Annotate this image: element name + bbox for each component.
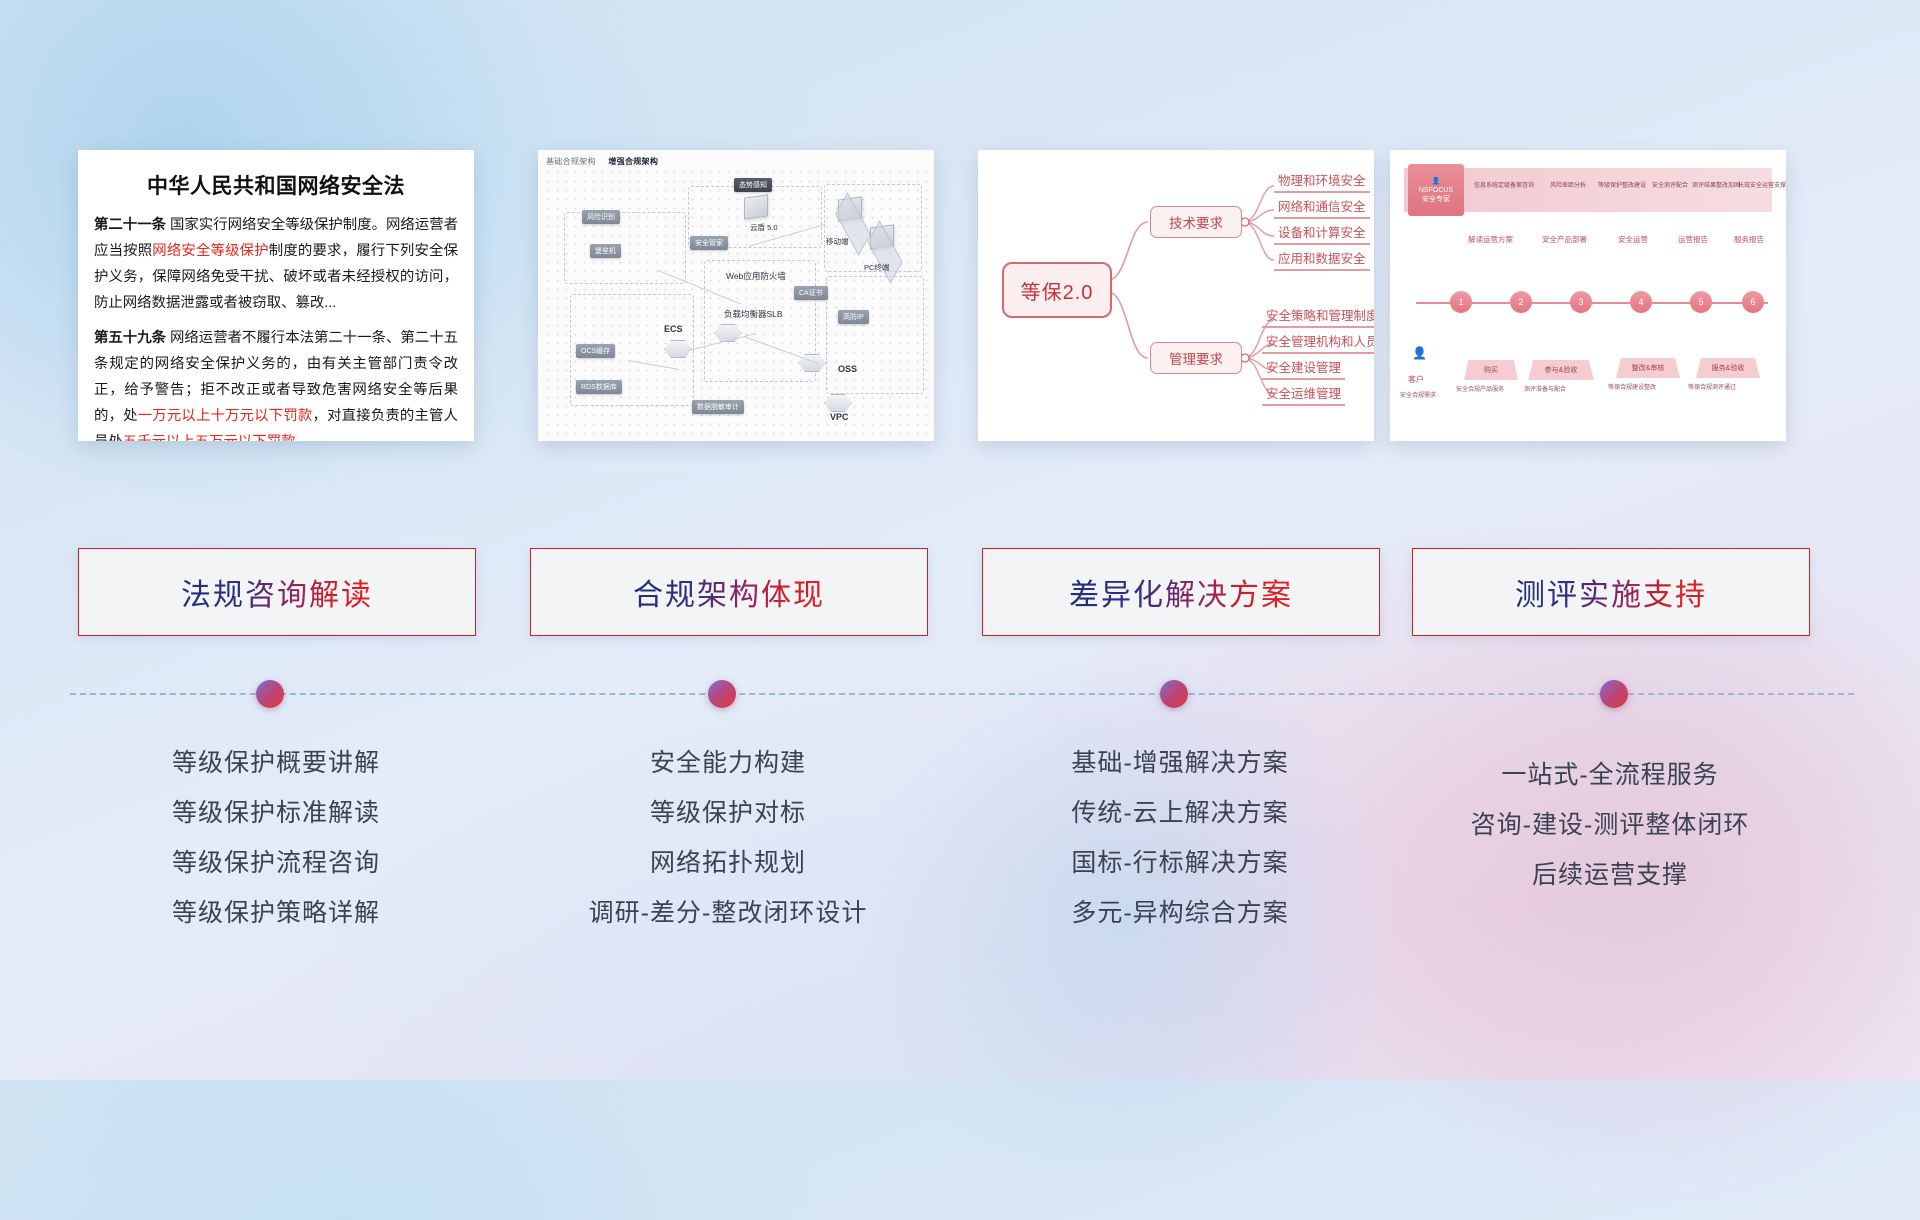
chip-situational-awareness: 态势感知 [734,178,772,192]
roadmap-bottom-sub-1: 测评准备与配合 [1524,384,1566,393]
label-mobile: 移动端 [826,236,849,247]
chip-anti-ddos: 高防IP [838,310,869,324]
chip-bastion-host: 堡垒机 [590,244,621,258]
mindmap-canvas: 等保2.0 技术要求 管理要求 物理和环境安全 网络和通信安全 设备和计算安全 … [978,150,1374,441]
list-item: 调研-差分-整改闭环设计 [530,888,926,938]
chip-ca-certificate: CA证书 [794,286,828,300]
roadmap-step-2: 2 [1510,291,1532,313]
roadmap-customer-label: 客户 [1408,374,1424,385]
mindmap-leaf-tech-2: 设备和计算安全 [1274,222,1370,245]
headings-row: 法规咨询解读 合规架构体现 差异化解决方案 测评实施支持 [0,548,1920,636]
roadmap-service-label-4: 服务报告 [1734,234,1764,245]
mindmap-leaf-mgmt-3: 安全运维管理 [1262,383,1345,406]
chip-risk-identification: 风险识别 [582,210,620,224]
roadmap-bottom-sub-3: 等保合规测评通过 [1688,382,1736,391]
roadmap-persona-badge: 👤 NSFOCUS 安全专家 [1408,164,1464,216]
heading-box-assessment-support[interactable]: 测评实施支持 [1412,548,1810,636]
architecture-tabs: 基础合规架构 增强合规架构 [546,156,668,167]
customer-icon: 👤 [1412,346,1427,360]
heading-label-2: 合规架构体现 [633,570,825,614]
mindmap-root: 等保2.0 [1002,262,1112,318]
list-item: 多元-异构综合方案 [982,888,1378,938]
label-waf: Web应用防火墙 [726,270,786,282]
law-title: 中华人民共和国网络安全法 [94,170,458,200]
mindmap-leaf-tech-3: 应用和数据安全 [1274,248,1370,271]
roadmap-step-5: 5 [1690,291,1712,313]
persona-line-1: NSFOCUS [1419,186,1453,195]
detail-lists-row: 等级保护概要讲解 等级保护标准解读 等级保护流程咨询 等级保护策略详解 安全能力… [0,738,1920,978]
architecture-tab-basic[interactable]: 基础合规架构 [546,157,596,166]
list-item: 后续运营支撑 [1412,850,1808,900]
list-item: 等级保护对标 [530,788,926,838]
icon-server-situational [744,194,768,219]
heading-box-compliance-architecture[interactable]: 合规架构体现 [530,548,928,636]
mindmap-leaf-mgmt-1: 安全管理机构和人员 [1262,331,1374,354]
roadmap-service-label-1: 安全产品部署 [1542,234,1587,245]
roadmap-top-label-0: 信息系统定级备案咨询 [1474,180,1534,189]
timeline-dot-4 [1600,680,1628,708]
roadmap-step-3: 3 [1570,291,1592,313]
timeline-dot-2 [708,680,736,708]
list-item: 等级保护概要讲解 [78,738,474,788]
cards-row: 中华人民共和国网络安全法 第二十一条 国家实行网络安全等级保护制度。网络运营者应… [0,150,1920,450]
label-pc: PC终端 [864,262,889,273]
roadmap-canvas: 👤 NSFOCUS 安全专家 信息系统定级备案咨询 风险差距分析 等级保护整改建… [1390,150,1786,441]
label-slb: 负载均衡器SLB [724,308,783,320]
detail-list-solution: 基础-增强解决方案 传统-云上解决方案 国标-行标解决方案 多元-异构综合方案 [982,738,1378,938]
list-item: 一站式-全流程服务 [1412,750,1808,800]
heading-label-4: 测评实施支持 [1515,570,1707,614]
timeline-track [70,693,1854,699]
heading-label-1: 法规咨询解读 [181,570,373,614]
zone-right [826,276,924,394]
label-ecs: ECS [664,324,683,334]
law-article-59-highlight-2: 五千元以上五万元以下罚款。 [123,434,310,441]
mindmap-leaf-mgmt-0: 安全策略和管理制度 [1262,305,1374,328]
architecture-tab-enhanced[interactable]: 增强合规架构 [608,157,658,166]
roadmap-bottom-sub-0: 安全合规产品服务 [1456,384,1504,393]
label-cloud-shield: 云盾 5.0 [750,222,778,233]
roadmap-bottom-sub-2: 等保合规建设整改 [1608,382,1656,391]
heading-box-differentiated-solution[interactable]: 差异化解决方案 [982,548,1380,636]
list-item: 传统-云上解决方案 [982,788,1378,838]
chip-rds-database: RDS数据库 [576,380,622,394]
roadmap-service-label-3: 运营报告 [1678,234,1708,245]
mindmap-branch-technical: 技术要求 [1150,206,1242,238]
law-article-21: 第二十一条 国家实行网络安全等级保护制度。网络运营者应当按照网络安全等级保护制度… [94,212,458,316]
roadmap-step-6: 6 [1742,291,1764,313]
roadmap-bottom-item-0: 购买 [1464,360,1518,380]
detail-list-assessment: 一站式-全流程服务 咨询-建设-测评整体闭环 后续运营支撑 [1412,750,1808,900]
roadmap-customer-sub: 安全合规需求 [1400,390,1436,399]
mindmap-leaf-mgmt-2: 安全建设管理 [1262,357,1345,380]
mindmap-leaf-tech-1: 网络和通信安全 [1274,196,1370,219]
list-item: 等级保护流程咨询 [78,838,474,888]
list-item: 咨询-建设-测评整体闭环 [1412,800,1808,850]
law-article-59-label: 第五十九条 [94,330,166,346]
roadmap-top-label-5: 长效安全运营支撑 [1738,180,1786,189]
list-item: 国标-行标解决方案 [982,838,1378,888]
list-item: 网络拓扑规划 [530,838,926,888]
roadmap-bottom-item-3: 服务&验收 [1696,358,1760,378]
law-article-59-highlight-1: 一万元以上十万元以下罚款 [138,408,313,424]
list-item: 基础-增强解决方案 [982,738,1378,788]
mindmap-leaf-tech-0: 物理和环境安全 [1274,170,1370,193]
architecture-diagram-card: 基础合规架构 增强合规架构 态势感知 堡垒机 风险识别 安全管家 CA证书 高防… [538,150,934,441]
list-item: 安全能力构建 [530,738,926,788]
law-article-21-label: 第二十一条 [94,217,166,233]
roadmap-card: 👤 NSFOCUS 安全专家 信息系统定级备案咨询 风险差距分析 等级保护整改建… [1390,150,1786,441]
mindmap-branch-management: 管理要求 [1150,342,1242,374]
roadmap-service-label-0: 解读运营方案 [1468,234,1513,245]
label-oss: OSS [838,364,857,374]
heading-box-legal-consulting[interactable]: 法规咨询解读 [78,548,476,636]
roadmap-top-label-3: 安全测评配合 [1652,180,1688,189]
list-item: 等级保护标准解读 [78,788,474,838]
law-document-body: 中华人民共和国网络安全法 第二十一条 国家实行网络安全等级保护制度。网络运营者应… [78,150,474,441]
list-item: 等级保护策略详解 [78,888,474,938]
roadmap-top-label-1: 风险差距分析 [1550,180,1586,189]
chip-security-butler: 安全管家 [690,236,728,250]
persona-line-2: 安全专家 [1422,195,1450,204]
label-vpc: VPC [830,412,849,422]
roadmap-step-1: 1 [1450,291,1472,313]
law-article-59: 第五十九条 网络运营者不履行本法第二十一条、第二十五条规定的网络安全保护义务的，… [94,325,458,441]
chip-data-masking-audit: 数据脱敏审计 [692,400,744,414]
architecture-canvas: 基础合规架构 增强合规架构 态势感知 堡垒机 风险识别 安全管家 CA证书 高防… [538,150,934,441]
chip-ocs-cache: OCS缓存 [576,344,615,358]
roadmap-step-4: 4 [1630,291,1652,313]
law-document-card: 中华人民共和国网络安全法 第二十一条 国家实行网络安全等级保护制度。网络运营者应… [78,150,474,441]
mindmap-card: 等保2.0 技术要求 管理要求 物理和环境安全 网络和通信安全 设备和计算安全 … [978,150,1374,441]
timeline-dot-1 [256,680,284,708]
roadmap-service-label-2: 安全运营 [1618,234,1648,245]
persona-icon: 👤 [1432,177,1441,186]
detail-list-architecture: 安全能力构建 等级保护对标 网络拓扑规划 调研-差分-整改闭环设计 [530,738,926,938]
roadmap-bottom-item-1: 参与&验收 [1528,360,1594,380]
roadmap-bottom-item-2: 整改&审核 [1616,358,1680,378]
detail-list-legal: 等级保护概要讲解 等级保护标准解读 等级保护流程咨询 等级保护策略详解 [78,738,474,938]
timeline-dot-3 [1160,680,1188,708]
roadmap-top-label-2: 等级保护整改建设 [1598,180,1646,189]
roadmap-top-label-4: 测评结果整改加固 [1692,180,1740,189]
heading-label-3: 差异化解决方案 [1069,570,1293,614]
law-article-21-highlight: 网络安全等级保护 [152,243,269,259]
